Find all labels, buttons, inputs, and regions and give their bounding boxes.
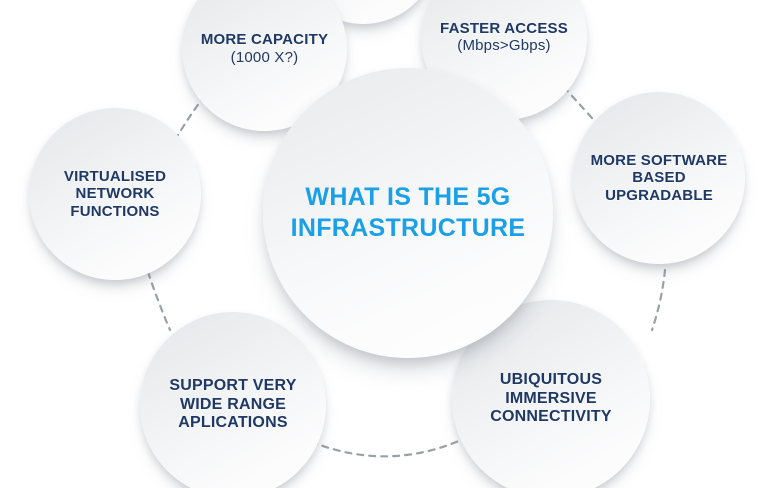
- virtualised-line3: FUNCTIONS: [70, 203, 159, 220]
- bubble-more-software-label: MORE SOFTWARE BASED UPGRADABLE: [585, 152, 734, 204]
- connector-software-to-ubiquitous: [652, 270, 665, 330]
- more-capacity-line1: MORE CAPACITY: [201, 31, 328, 48]
- infographic-canvas: MORE CAPACITY (1000 X?) FASTER ACCESS (M…: [0, 0, 770, 488]
- support-line2: WIDE RANGE: [180, 396, 286, 413]
- bubble-support-very-wide-range-aplications[interactable]: SUPPORT VERY WIDE RANGE APLICATIONS: [140, 312, 326, 488]
- virtualised-line2: NETWORK: [76, 185, 155, 202]
- bubble-faster-access-label: FASTER ACCESS (Mbps>Gbps): [434, 20, 574, 55]
- bubble-virtualised-label: VIRTUALISED NETWORK FUNCTIONS: [58, 168, 172, 220]
- support-line3: APLICATIONS: [178, 414, 287, 431]
- more-software-line1: MORE SOFTWARE: [591, 152, 728, 169]
- ubiquitous-line1: UBIQUITOUS: [500, 371, 602, 388]
- more-software-line2: BASED: [632, 169, 686, 186]
- support-line1: SUPPORT VERY: [169, 377, 296, 394]
- more-software-line3: UPGRADABLE: [605, 187, 713, 204]
- connector-virtualised-to-support: [148, 272, 170, 330]
- bubble-virtualised-network-functions[interactable]: VIRTUALISED NETWORK FUNCTIONS: [29, 108, 201, 280]
- more-capacity-line2: (1000 X?): [201, 49, 328, 66]
- bubble-support-label: SUPPORT VERY WIDE RANGE APLICATIONS: [163, 377, 302, 433]
- center-title: WHAT IS THE 5G INFRASTRUCTURE: [285, 182, 532, 245]
- ubiquitous-line3: CONNECTIVITY: [490, 408, 612, 425]
- connector-support-to-ubiquitous: [300, 432, 478, 456]
- faster-access-line1: FASTER ACCESS: [440, 20, 568, 37]
- virtualised-line1: VIRTUALISED: [64, 168, 166, 185]
- bubble-more-capacity-label: MORE CAPACITY (1000 X?): [195, 31, 334, 66]
- bubble-ubiquitous-label: UBIQUITOUS IMMERSIVE CONNECTIVITY: [484, 371, 618, 427]
- center-title-line1: WHAT IS THE 5G: [305, 183, 510, 211]
- ubiquitous-line2: IMMERSIVE: [505, 390, 597, 407]
- bubble-center-what-is-5g-infrastructure[interactable]: WHAT IS THE 5G INFRASTRUCTURE: [263, 68, 553, 358]
- center-title-line2: INFRASTRUCTURE: [291, 214, 526, 242]
- bubble-more-software-based-upgradable[interactable]: MORE SOFTWARE BASED UPGRADABLE: [573, 92, 745, 264]
- faster-access-line2: (Mbps>Gbps): [440, 37, 568, 54]
